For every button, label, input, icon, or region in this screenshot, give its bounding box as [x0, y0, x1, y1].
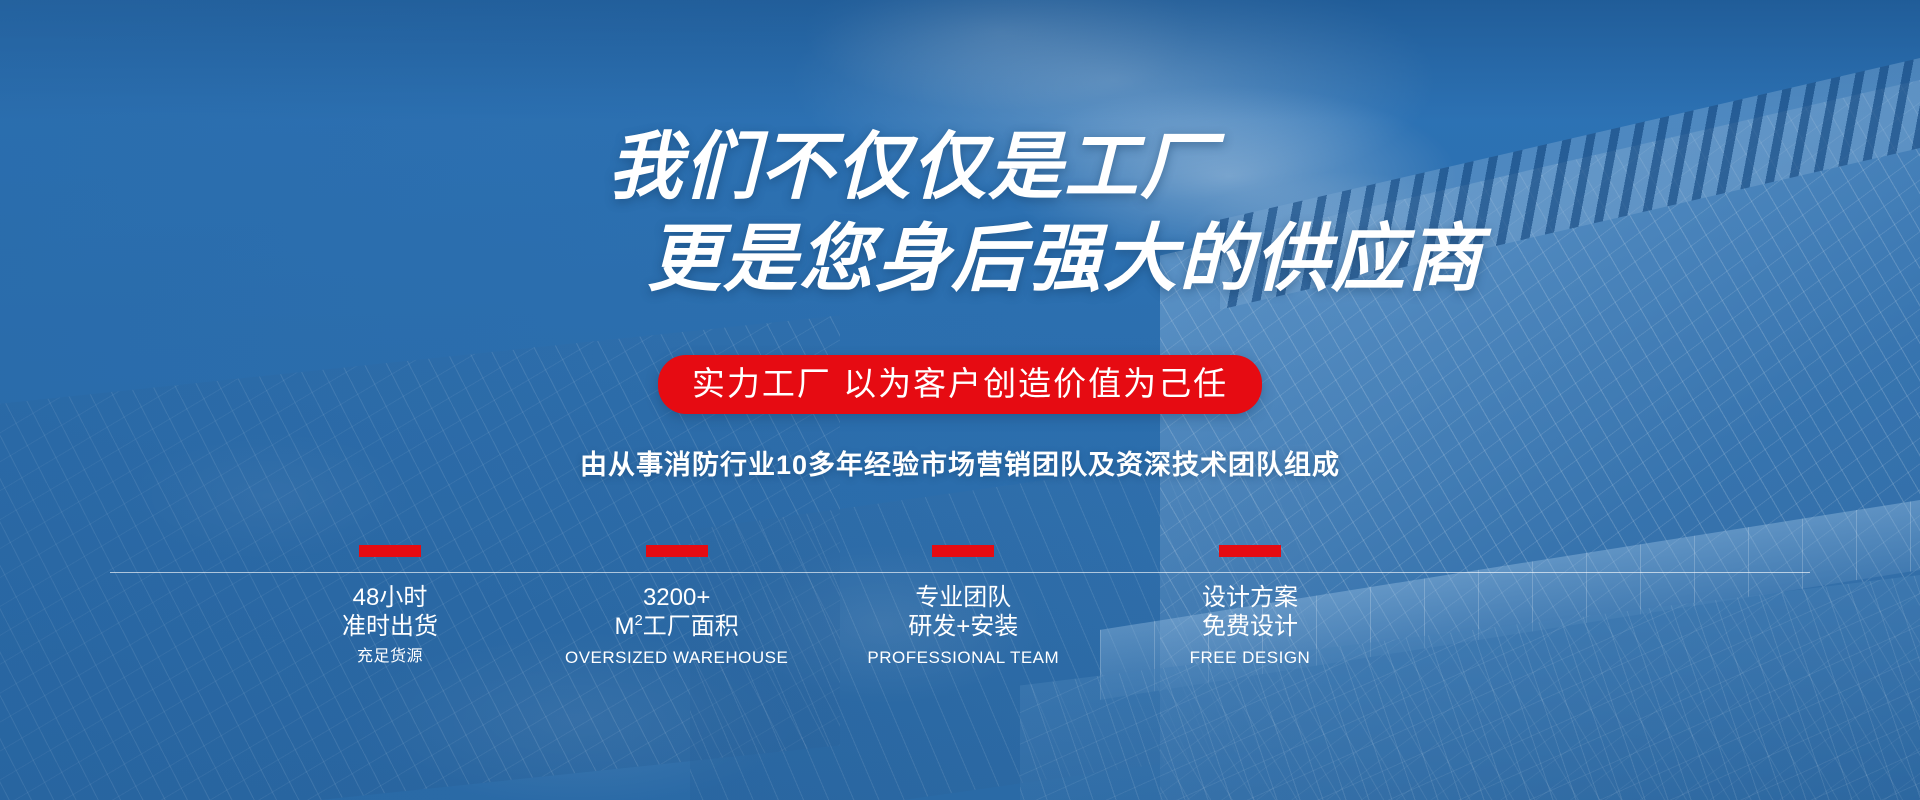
feature-3-line-1: 专业团队	[833, 583, 1093, 612]
feature-item-2: 3200+ M2工厂面积 OVERSIZED WAREHOUSE	[547, 545, 807, 670]
feature-1-subtext: 充足货源	[260, 645, 520, 669]
feature-2-unit-prefix: M	[615, 613, 635, 640]
slogan-badge: 实力工厂 以为客户创造价值为己任	[658, 355, 1262, 414]
feature-item-1: 48小时 准时出货 充足货源	[260, 545, 520, 669]
slogan-badge-wrapper: 实力工厂 以为客户创造价值为己任	[0, 355, 1920, 414]
red-tab-marker-icon	[1219, 545, 1281, 557]
feature-item-3: 专业团队 研发+安装 PROFESSIONAL TEAM	[833, 545, 1093, 670]
banner-subtitle: 由从事消防行业10多年经验市场营销团队及资深技术团队组成	[0, 443, 1920, 482]
feature-2-unit-suffix: 工厂面积	[643, 613, 739, 640]
feature-4-line-2: 免费设计	[1120, 612, 1380, 641]
feature-2-line-2: M2工厂面积	[547, 612, 807, 641]
feature-item-4: 设计方案 免费设计 FREE DESIGN	[1120, 545, 1380, 670]
feature-3-subtext: PROFESSIONAL TEAM	[833, 645, 1093, 671]
red-tab-marker-icon	[932, 545, 994, 557]
feature-highlights: 48小时 准时出货 充足货源 3200+ M2工厂面积 OVERSIZED WA…	[260, 545, 1380, 670]
feature-2-subtext: OVERSIZED WAREHOUSE	[547, 645, 807, 671]
headline-line-2: 更是您身后强大的供应商	[210, 222, 1920, 296]
feature-3-line-2: 研发+安装	[833, 612, 1093, 641]
red-tab-marker-icon	[646, 545, 708, 557]
feature-1-line-1: 48小时	[260, 583, 520, 612]
feature-4-line-1: 设计方案	[1120, 583, 1380, 612]
hero-banner: 我们不仅仅是工厂 更是您身后强大的供应商 实力工厂 以为客户创造价值为己任 由从…	[0, 0, 1920, 800]
feature-2-line-1: 3200+	[547, 583, 807, 612]
headline-group: 我们不仅仅是工厂 更是您身后强大的供应商	[0, 130, 1920, 296]
feature-2-unit-superscript: 2	[635, 613, 643, 629]
banner-content: 我们不仅仅是工厂 更是您身后强大的供应商 实力工厂 以为客户创造价值为己任 由从…	[0, 0, 1920, 800]
feature-4-subtext: FREE DESIGN	[1120, 645, 1380, 671]
feature-1-line-2: 准时出货	[260, 612, 520, 641]
red-tab-marker-icon	[359, 545, 421, 557]
headline-line-1: 我们不仅仅是工厂	[0, 130, 1920, 204]
